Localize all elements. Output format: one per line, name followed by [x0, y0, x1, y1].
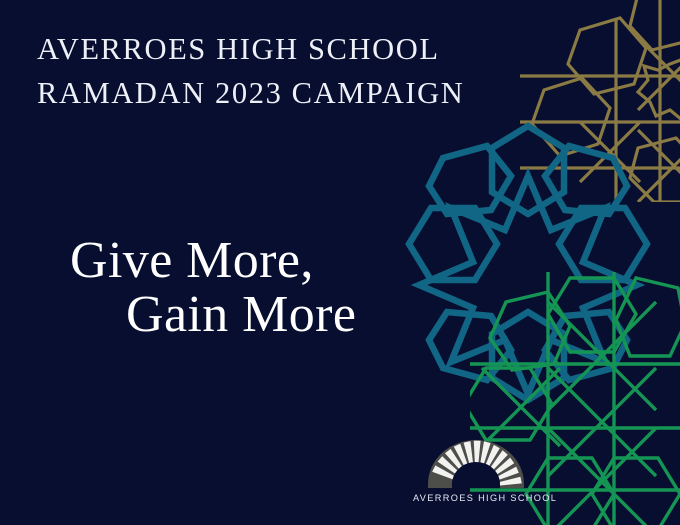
title-line-2: RAMADAN 2023 CAMPAIGN — [37, 72, 477, 116]
headline-line-1: Give More, — [0, 234, 400, 288]
headline-line-2: Gain More — [0, 288, 400, 342]
averroes-arch-dome-icon — [424, 440, 528, 488]
ramadan-campaign-poster: AVERROES HIGH SCHOOL RAMADAN 2023 CAMPAI… — [0, 0, 680, 525]
campaign-headline: Give More, Gain More — [0, 234, 400, 342]
blue-eight-point-star-rosette-ornament — [383, 118, 673, 408]
gold-geometric-lattice-ornament — [520, 0, 680, 202]
campaign-title: AVERROES HIGH SCHOOL RAMADAN 2023 CAMPAI… — [37, 28, 477, 116]
school-logo: AVERROES HIGH SCHOOL — [413, 440, 538, 503]
title-line-1: AVERROES HIGH SCHOOL — [37, 28, 477, 72]
logo-wordmark: AVERROES HIGH SCHOOL — [413, 493, 538, 503]
